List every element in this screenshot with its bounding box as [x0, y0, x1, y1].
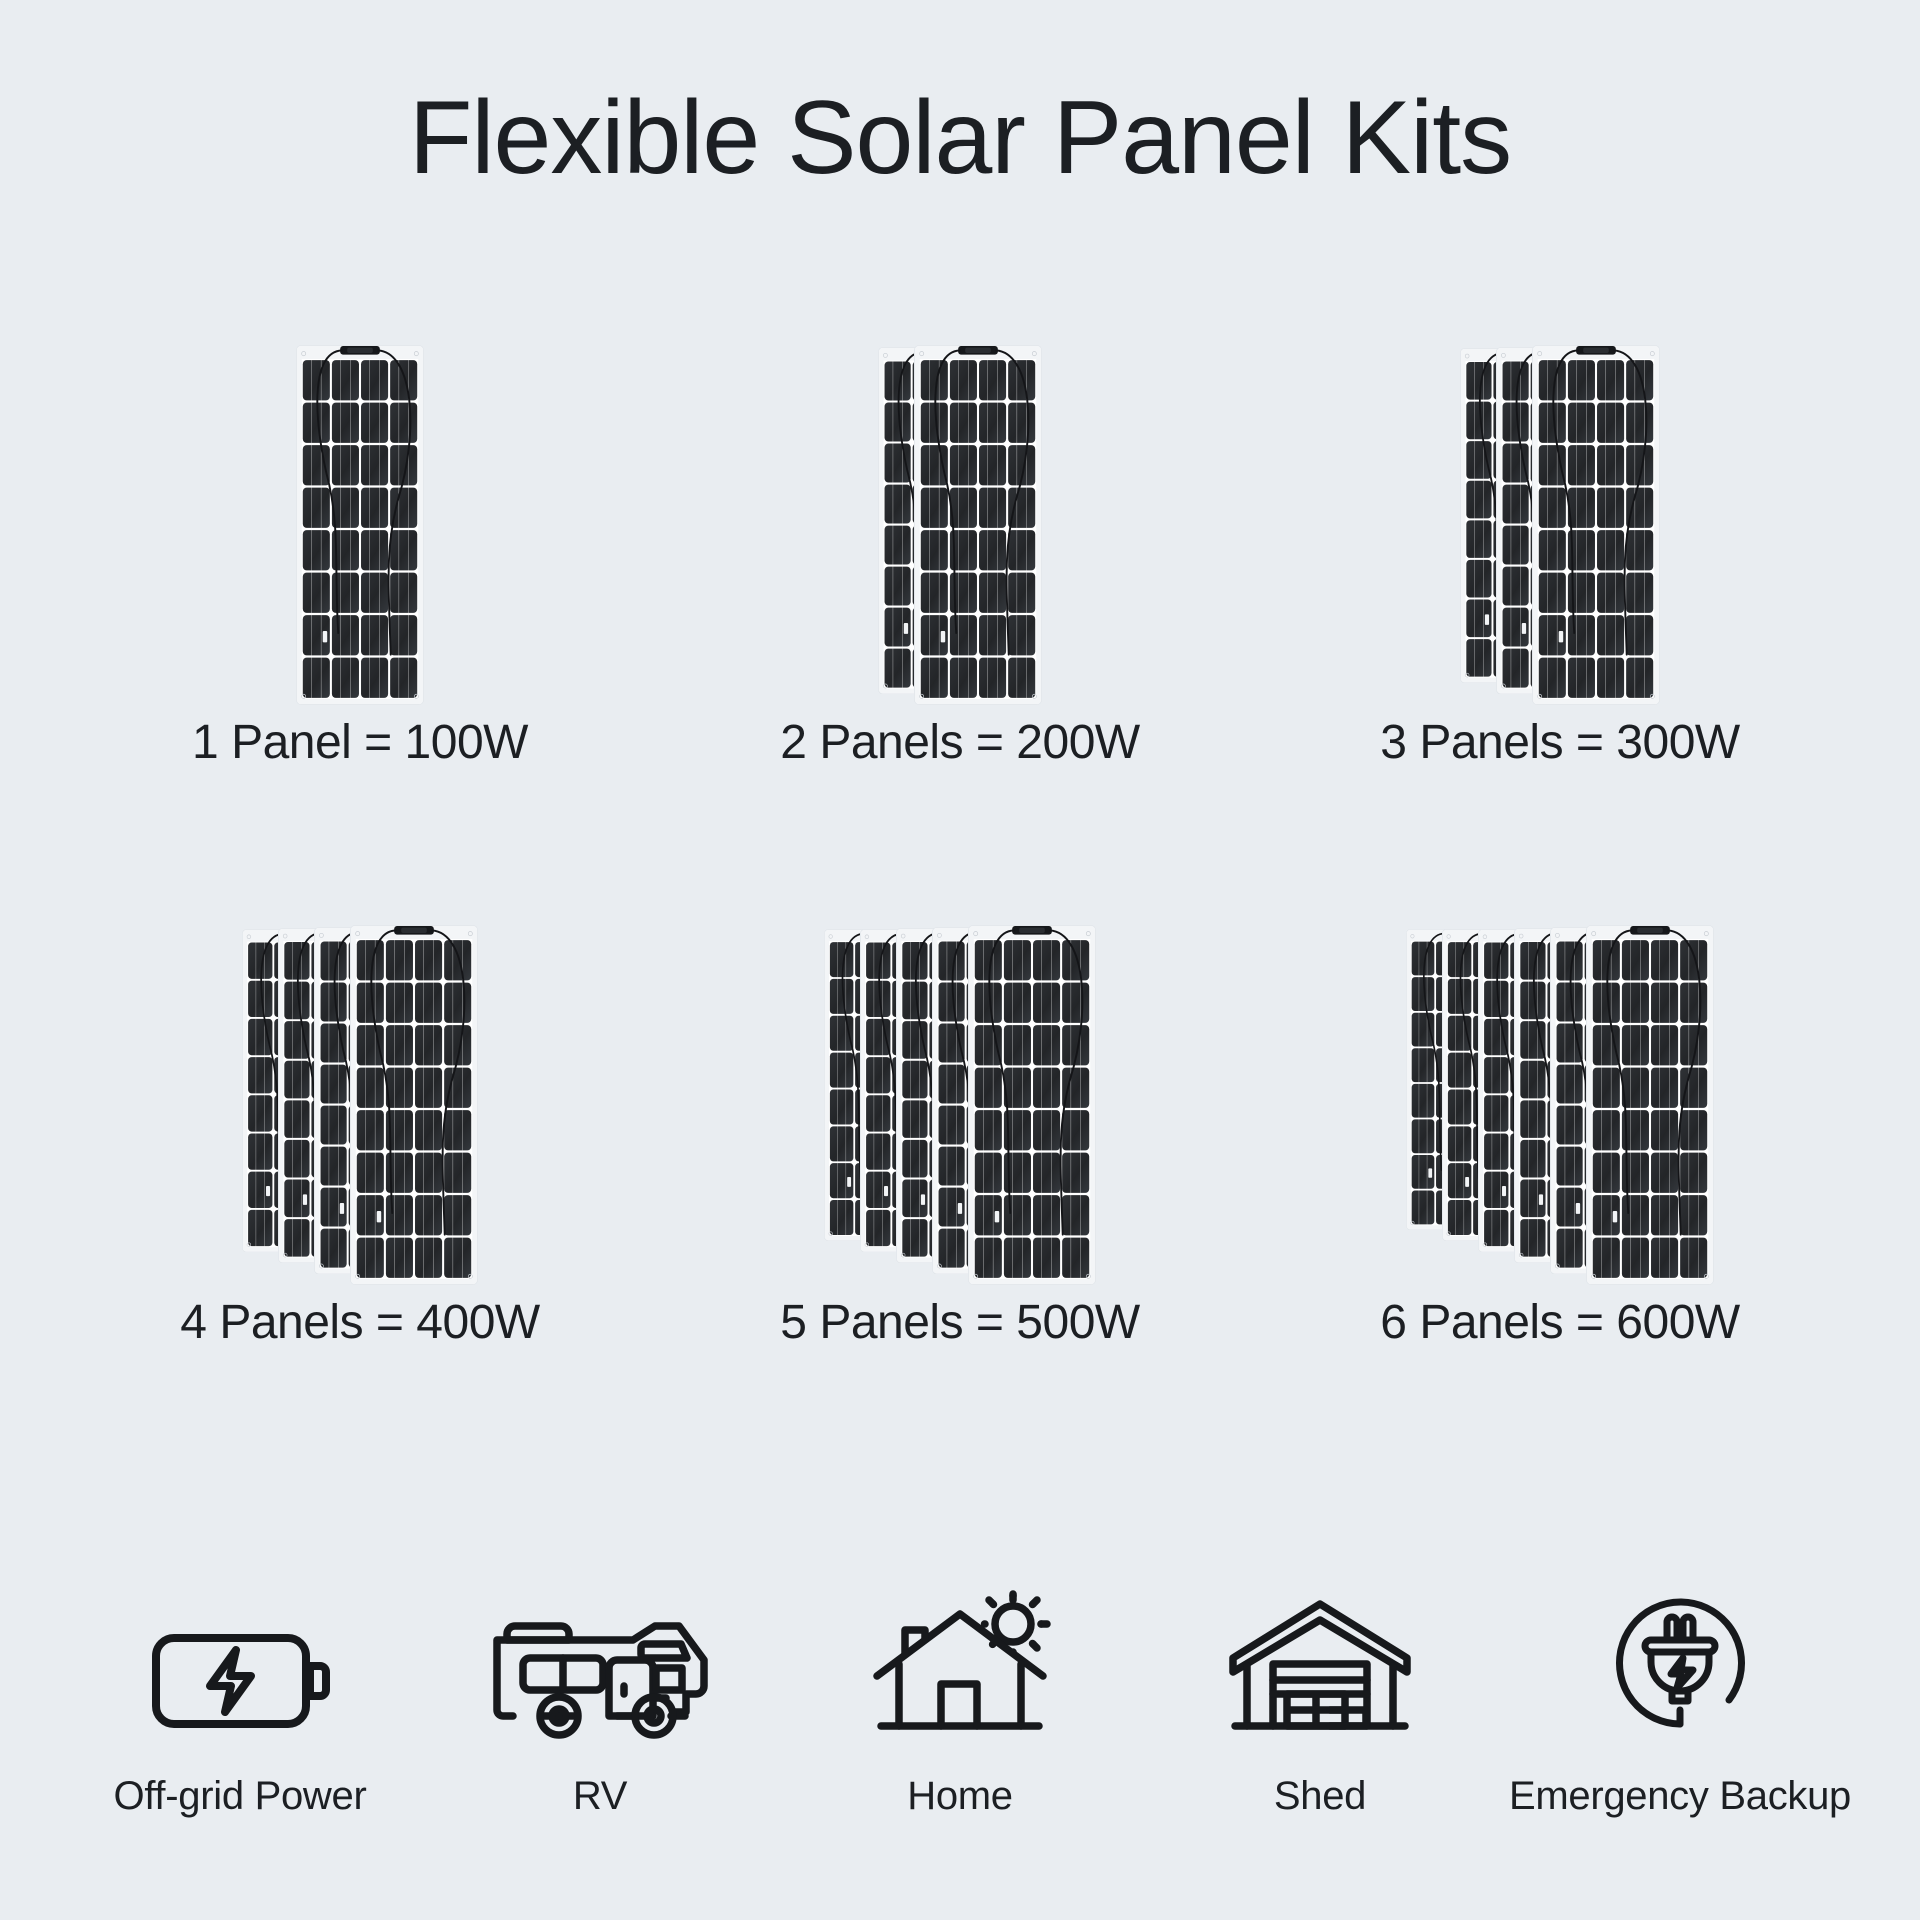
- solar-panel: [296, 345, 424, 705]
- kit-label-4: 4 Panels = 400W: [180, 1295, 539, 1350]
- rv-icon: [493, 1590, 708, 1740]
- panel-stack-1: [60, 300, 660, 705]
- feature-rv: RV: [420, 1590, 780, 1819]
- feature-label-home: Home: [907, 1774, 1013, 1819]
- kit-card-5: 5 Panels = 500W: [660, 880, 1260, 1350]
- feature-home: Home: [780, 1590, 1140, 1819]
- battery-bolt-icon: [150, 1590, 330, 1740]
- solar-panel: [914, 345, 1042, 705]
- solar-panel: [968, 925, 1096, 1285]
- feature-label-shed: Shed: [1274, 1774, 1366, 1819]
- kit-card-3: 3 Panels = 300W: [1260, 300, 1860, 770]
- panel-stack-5: [660, 880, 1260, 1285]
- panel-stack-6: [1260, 880, 1860, 1285]
- feature-emergency: Emergency Backup: [1500, 1590, 1860, 1819]
- shed-icon: [1225, 1590, 1415, 1740]
- kit-card-4: 4 Panels = 400W: [60, 880, 660, 1350]
- solar-panel: [1532, 345, 1660, 705]
- feature-label-emergency: Emergency Backup: [1509, 1774, 1851, 1819]
- feature-offgrid: Off-grid Power: [60, 1590, 420, 1819]
- panel-stack-2: [660, 300, 1260, 705]
- kit-label-2: 2 Panels = 200W: [780, 715, 1139, 770]
- kit-card-2: 2 Panels = 200W: [660, 300, 1260, 770]
- feature-row: Off-grid Power: [60, 1590, 1860, 1819]
- solar-panel: [1586, 925, 1714, 1285]
- kit-card-6: 6 Panels = 600W: [1260, 880, 1860, 1350]
- feature-label-offgrid: Off-grid Power: [114, 1774, 367, 1819]
- page-title: Flexible Solar Panel Kits: [0, 86, 1920, 190]
- kit-card-1: 1 Panel = 100W: [60, 300, 660, 770]
- kit-label-5: 5 Panels = 500W: [780, 1295, 1139, 1350]
- kit-label-1: 1 Panel = 100W: [192, 715, 528, 770]
- solar-panel: [350, 925, 478, 1285]
- panel-stack-3: [1260, 300, 1860, 705]
- panel-stack-4: [60, 880, 660, 1285]
- plug-bolt-icon: [1605, 1590, 1755, 1740]
- feature-shed: Shed: [1140, 1590, 1500, 1819]
- house-sun-icon: [865, 1590, 1055, 1740]
- kit-label-3: 3 Panels = 300W: [1380, 715, 1739, 770]
- kit-grid: 1 Panel = 100W: [60, 300, 1860, 1350]
- kit-label-6: 6 Panels = 600W: [1380, 1295, 1739, 1350]
- feature-label-rv: RV: [573, 1774, 627, 1819]
